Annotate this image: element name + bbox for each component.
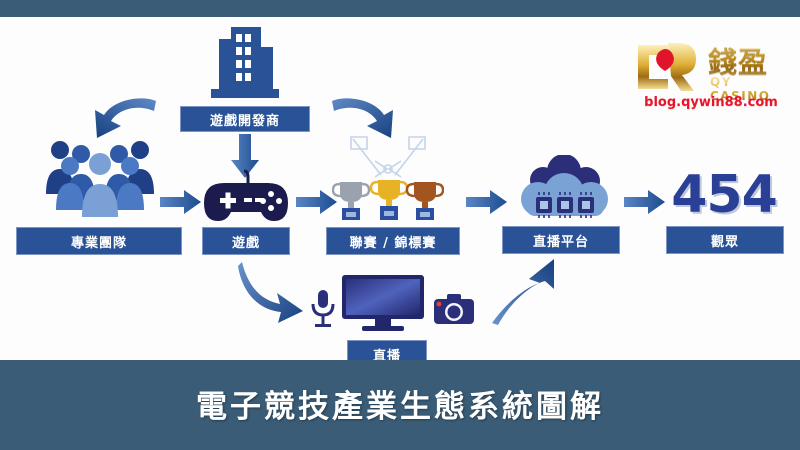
trophies-icon — [332, 180, 444, 224]
monitor-icon — [342, 275, 424, 332]
office-building-icon — [205, 27, 285, 105]
page-title: 電子競技產業生態系統圖解 — [0, 381, 800, 426]
camera-icon — [434, 293, 474, 325]
node-label-game[interactable]: 遊戲 — [202, 227, 290, 255]
viewer-count: 454 — [664, 165, 784, 225]
arrow-league-to-platform — [466, 189, 508, 215]
arrow-game-to-broadcast — [236, 260, 308, 324]
node-label-platform[interactable]: 直播平台 — [502, 226, 620, 254]
arrow-platform-to-audience — [624, 189, 666, 215]
brand-url[interactable]: blog.qywin88.com — [628, 95, 794, 110]
people-group-icon — [42, 132, 158, 217]
node-label-developer[interactable]: 遊戲開發商 — [180, 106, 310, 132]
arrow-team-to-game — [160, 189, 202, 215]
brand-logo[interactable]: 錢盈 QY CASINO blog.qywin88.com — [628, 39, 794, 119]
top-band — [0, 0, 800, 17]
diagram-area: 遊戲開發商 — [0, 17, 800, 360]
arrow-broadcast-to-platform — [490, 257, 558, 327]
cloud-server-icon — [512, 155, 616, 223]
gamepad-icon — [204, 169, 288, 221]
infographic-canvas: 遊戲開發商 — [0, 0, 800, 450]
node-label-league[interactable]: 聯賽 / 錦標賽 — [326, 227, 460, 255]
node-label-team[interactable]: 專業團隊 — [16, 227, 182, 255]
node-label-audience[interactable]: 觀眾 — [666, 226, 784, 254]
qy-monogram-icon — [628, 41, 706, 93]
microphone-icon — [310, 289, 336, 329]
crossed-flags-icon — [345, 135, 431, 185]
